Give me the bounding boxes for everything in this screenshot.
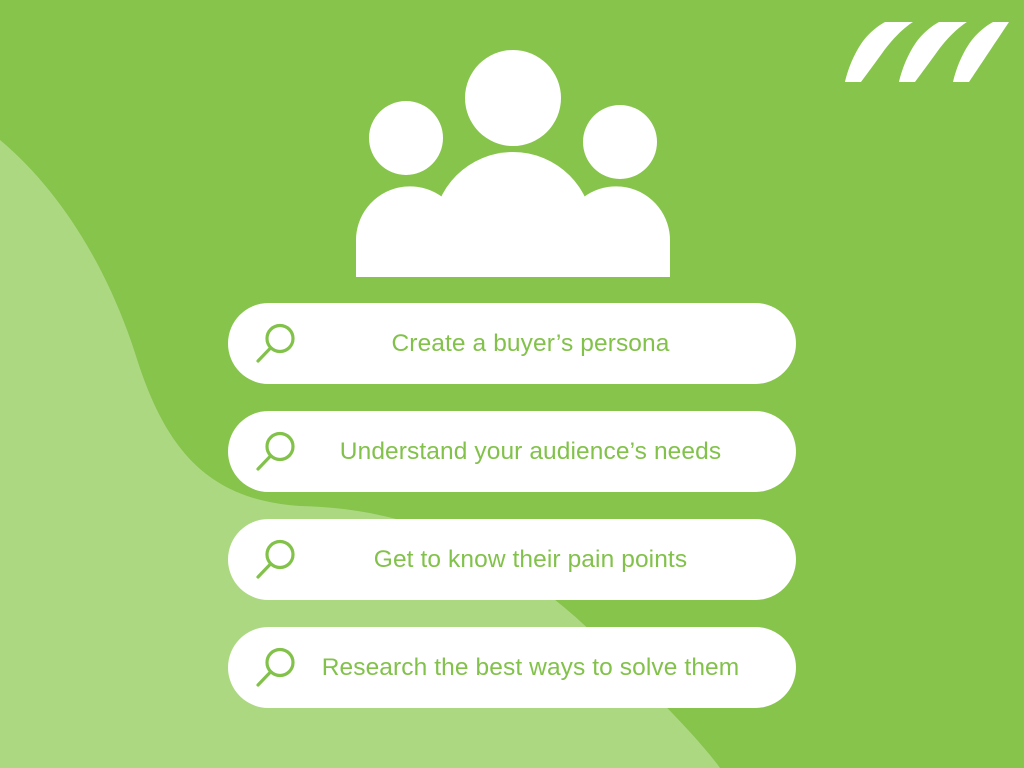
person-head-center-icon [465,50,561,146]
person-head-left-icon [369,101,443,175]
search-bar-label: Research the best ways to solve them [299,654,796,682]
search-bar-item-2[interactable]: Understand your audience’s needs [228,411,796,492]
search-bar-item-3[interactable]: Get to know their pain points [228,519,796,600]
person-head-right-icon [583,105,657,179]
search-bar-label: Understand your audience’s needs [299,438,796,466]
logo-slash-3-icon [953,22,1009,82]
people-group-icon [348,42,678,282]
search-icon[interactable] [253,537,299,583]
search-bar-item-4[interactable]: Research the best ways to solve them [228,627,796,708]
slide-canvas: Create a buyer’s persona Understand your… [0,0,1024,768]
search-bar-label: Create a buyer’s persona [299,330,796,358]
search-bar-item-1[interactable]: Create a buyer’s persona [228,303,796,384]
brand-logo[interactable] [843,18,1011,86]
search-icon[interactable] [253,321,299,367]
person-body-right-icon [566,186,670,277]
search-icon[interactable] [253,429,299,475]
search-bar-label: Get to know their pain points [299,546,796,574]
search-icon[interactable] [253,645,299,691]
search-bar-list: Create a buyer’s persona Understand your… [0,303,1024,708]
logo-slash-group [845,22,1009,82]
person-body-left-icon [356,186,460,277]
